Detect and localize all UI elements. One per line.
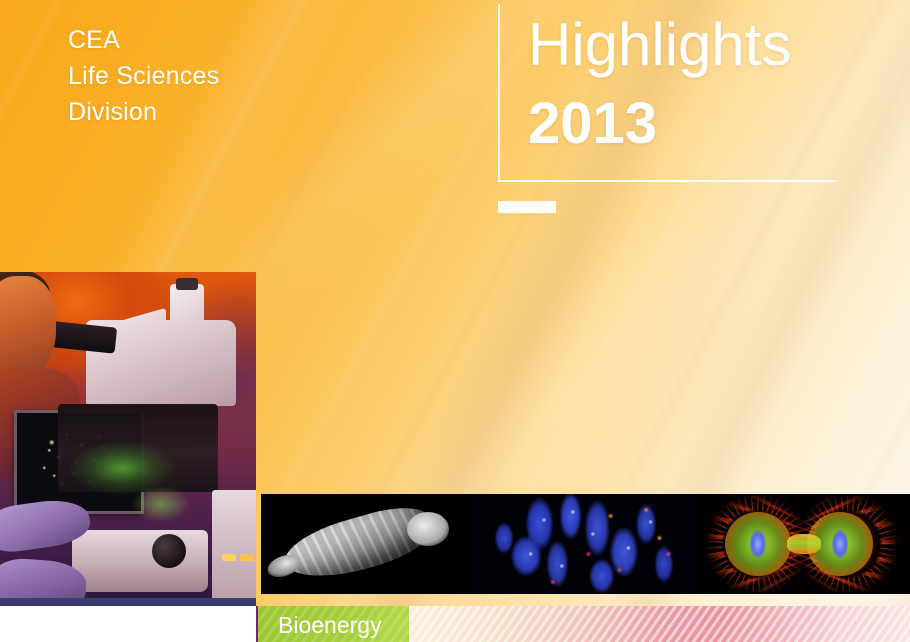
section-tab-bioenergy-label: Bioenergy bbox=[278, 610, 382, 640]
organization-block: CEA Life Sciences Division bbox=[68, 22, 219, 130]
lab-photo bbox=[0, 272, 256, 642]
chromosome-fish-spots bbox=[473, 494, 695, 594]
page-title-year: 2013 bbox=[528, 92, 657, 156]
page-title: Highlights bbox=[528, 12, 791, 78]
title-dash-marker bbox=[498, 201, 556, 213]
lab-photo-microscope-base bbox=[72, 530, 208, 592]
cell-dna-left bbox=[750, 530, 766, 558]
microscopy-image-band bbox=[261, 494, 910, 594]
organization-line-2: Life Sciences bbox=[68, 58, 219, 94]
bottom-strip: Bioenergy bbox=[0, 606, 910, 642]
bottom-strip-gradient bbox=[409, 606, 910, 642]
chromosome-fish-image bbox=[473, 494, 695, 594]
larva-head bbox=[407, 512, 449, 546]
lab-photo-instrument-box bbox=[212, 490, 256, 610]
section-tab-bioenergy[interactable]: Bioenergy bbox=[258, 606, 409, 642]
cover-page: CEA Life Sciences Division Highlights 20… bbox=[0, 0, 910, 642]
lab-photo-microscope-knob bbox=[152, 534, 186, 568]
lab-photo-microscope-column-cap bbox=[176, 278, 198, 290]
cell-midbody-bridge bbox=[787, 534, 821, 554]
organization-line-3: Division bbox=[68, 94, 219, 130]
larva-segments bbox=[279, 498, 438, 589]
organization-line-1: CEA bbox=[68, 22, 219, 58]
lab-photo-indicator-lamp bbox=[222, 554, 236, 561]
dividing-cell-image bbox=[695, 494, 910, 594]
sem-larva-image bbox=[261, 494, 473, 594]
cell-dna-right bbox=[832, 530, 848, 558]
